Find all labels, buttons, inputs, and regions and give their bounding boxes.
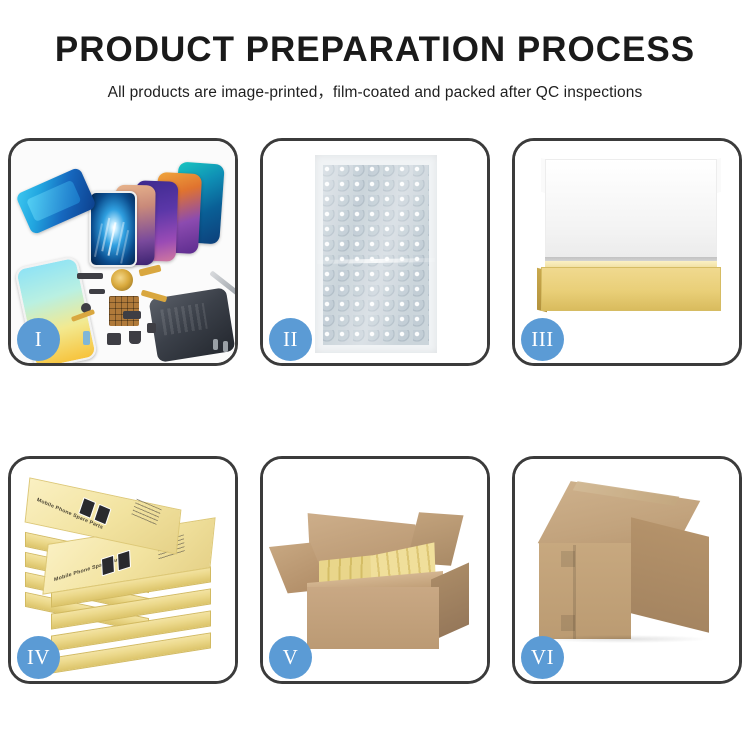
flex-cable-icon	[138, 264, 161, 276]
box-lid-icon	[545, 159, 717, 269]
page-subtitle: All products are image-printed，film-coat…	[0, 80, 750, 102]
step-badge-3: III	[521, 318, 564, 361]
speaker-coil-icon	[111, 269, 133, 291]
process-step-panel-2: II	[260, 138, 490, 366]
component-chip-icon	[89, 289, 105, 294]
step-badge-2: II	[269, 318, 312, 361]
process-step-panel-4: Mobile Phone Spare Parts Mobile Phone Sp…	[8, 456, 238, 684]
screw-icon	[223, 341, 228, 352]
component-chip-icon	[107, 333, 121, 345]
adhesive-film-icon	[15, 167, 97, 236]
component-chip-icon	[147, 323, 156, 333]
process-step-panel-6: VI	[512, 456, 742, 684]
carton-notch-icon	[561, 551, 575, 567]
step-badge-6: VI	[521, 636, 564, 679]
header: PRODUCT PREPARATION PROCESS All products…	[0, 0, 750, 102]
retail-box-screen-art	[101, 550, 131, 577]
step-badge-1: I	[17, 318, 60, 361]
process-step-panel-3: III	[512, 138, 742, 366]
component-chip-icon	[77, 273, 103, 279]
box-base-icon	[541, 267, 721, 311]
step-badge-4: IV	[17, 636, 60, 679]
carton-notch-icon	[561, 615, 575, 631]
retail-box-spec-lines	[131, 499, 161, 526]
component-chip-icon	[129, 331, 141, 344]
carton-body-icon	[307, 587, 439, 649]
carton-side-icon	[631, 517, 709, 632]
component-chip-icon	[123, 311, 141, 319]
carton-front-icon	[539, 543, 631, 639]
page-title: PRODUCT PREPARATION PROCESS	[0, 32, 750, 69]
screen-protector-icon	[89, 191, 137, 267]
product-preparation-infographic: PRODUCT PREPARATION PROCESS All products…	[0, 0, 750, 750]
carton-shadow	[543, 635, 707, 643]
step-badge-5: V	[269, 636, 312, 679]
component-chip-icon	[83, 331, 90, 345]
bubble-wrap-pouch-icon	[323, 165, 429, 345]
process-step-panel-1: I	[8, 138, 238, 366]
process-steps-grid: I II	[8, 138, 742, 684]
process-step-panel-5: V	[260, 456, 490, 684]
screw-icon	[213, 339, 218, 350]
